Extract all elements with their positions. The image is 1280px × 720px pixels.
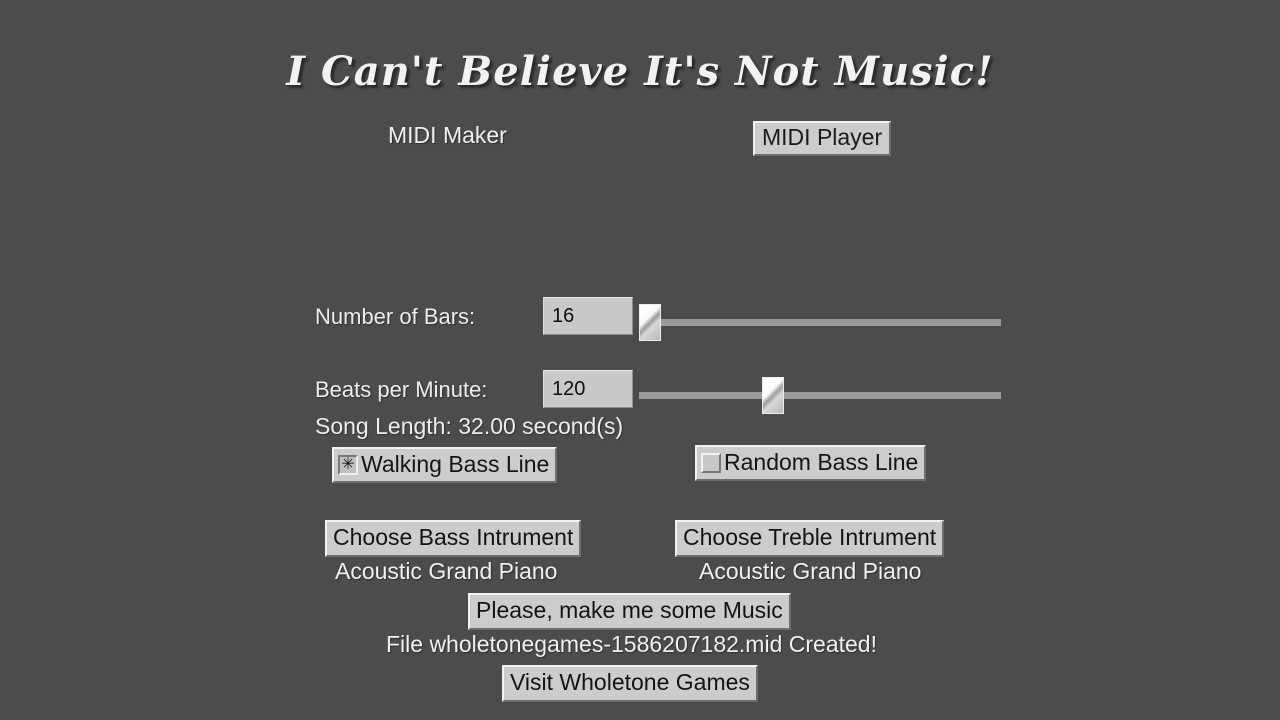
beats-per-minute-slider[interactable] [639,377,1001,414]
choose-treble-instrument-button[interactable]: Choose Treble Intrument [675,520,944,557]
number-of-bars-label: Number of Bars: [315,304,475,330]
make-music-button[interactable]: Please, make me some Music [468,593,791,630]
beats-per-minute-label: Beats per Minute: [315,377,487,403]
number-of-bars-slider[interactable] [639,304,1001,341]
visit-wholetone-games-button[interactable]: Visit Wholetone Games [502,665,758,702]
walking-bass-line-label: Walking Bass Line [361,451,549,478]
song-length-label: Song Length: 32.00 second(s) [315,413,623,440]
tab-midi-player[interactable]: MIDI Player [753,121,891,156]
bass-instrument-value: Acoustic Grand Piano [335,558,557,585]
beats-per-minute-slider-handle[interactable] [762,377,784,414]
number-of-bars-input[interactable]: 16 [543,297,633,335]
number-of-bars-slider-track[interactable] [639,319,1001,326]
file-created-status: File wholetonegames-1586207182.mid Creat… [386,631,877,658]
checkbox-unchecked-icon[interactable] [701,453,721,473]
choose-bass-instrument-button[interactable]: Choose Bass Intrument [325,520,581,557]
treble-instrument-value: Acoustic Grand Piano [699,558,921,585]
page-title: I Can't Believe It's Not Music! [0,48,1280,95]
beats-per-minute-slider-track[interactable] [639,392,1001,399]
checkbox-checked-icon[interactable]: ✳ [338,455,358,475]
walking-bass-line-checkbox-row[interactable]: ✳ Walking Bass Line [332,447,557,483]
random-bass-line-label: Random Bass Line [724,449,918,476]
number-of-bars-slider-handle[interactable] [639,304,661,341]
midi-maker-window: I Can't Believe It's Not Music! MIDI Mak… [0,0,1280,720]
tab-midi-maker[interactable]: MIDI Maker [388,122,507,149]
beats-per-minute-input[interactable]: 120 [543,370,633,408]
random-bass-line-checkbox-row[interactable]: Random Bass Line [695,445,926,481]
